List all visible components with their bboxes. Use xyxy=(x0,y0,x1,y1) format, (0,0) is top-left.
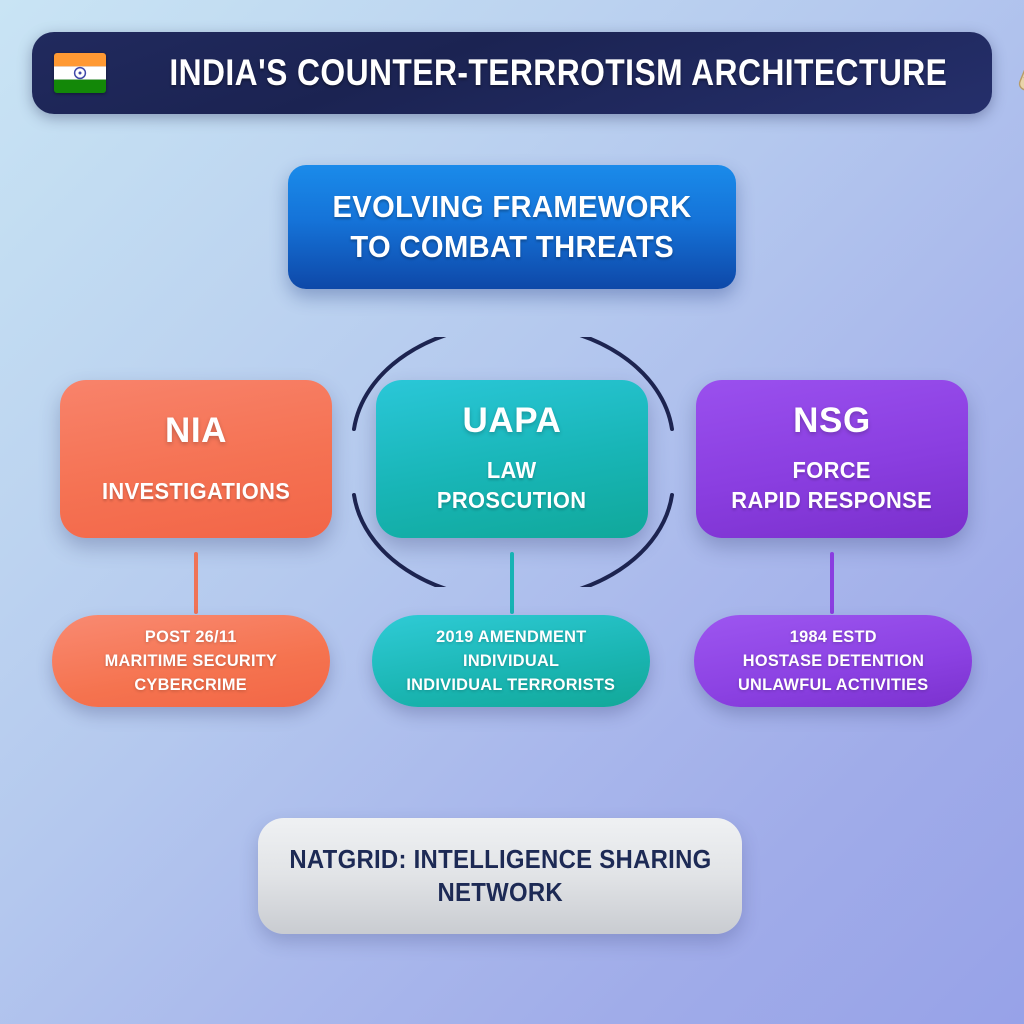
detail-line-nsg-1: HOSTASE DETENTION xyxy=(742,649,923,673)
detail-pill-nia[interactable]: POST 26/11 MARITIME SECURITY CYBERCRIME xyxy=(52,615,330,707)
footer-line-2: NETWORK xyxy=(437,876,563,909)
subtitle-line-1: EVOLVING FRAMEWORK xyxy=(332,187,691,227)
detail-line-uapa-0: 2019 AMENDMENT xyxy=(436,625,586,649)
detail-line-nia-0: POST 26/11 xyxy=(145,625,237,649)
pillar-subs-nia: INVESTIGATIONS xyxy=(97,476,295,506)
pillar-sub-uapa-1: PROSCUTION xyxy=(437,485,586,515)
pillar-sub-nsg-0: FORCE xyxy=(732,455,933,485)
header-bar: INDIA'S COUNTER-TERRROTISM ARCHITECTURE xyxy=(32,32,992,114)
footer-natgrid-box[interactable]: NATGRID: INTELLIGENCE SHARING NETWORK xyxy=(258,818,742,934)
connector-line-nsg xyxy=(830,552,834,614)
page-title: INDIA'S COUNTER-TERRROTISM ARCHITECTURE xyxy=(169,52,947,94)
connector-line-nia xyxy=(194,552,198,614)
subtitle-banner: EVOLVING FRAMEWORK TO COMBAT THREATS xyxy=(288,165,736,289)
detail-pill-nsg[interactable]: 1984 ESTD HOSTASE DETENTION UNLAWFUL ACT… xyxy=(694,615,972,707)
detail-line-nia-2: CYBERCRIME xyxy=(135,673,248,697)
detail-line-nia-1: MARITIME SECURITY xyxy=(105,649,278,673)
pillar-title-nia: NIA xyxy=(165,412,227,451)
detail-line-uapa-1: INDIVIDUAL xyxy=(463,649,559,673)
pillar-card-uapa[interactable]: UAPA LAW PROSCUTION xyxy=(376,380,648,538)
pillar-subs-nsg: FORCE RAPID RESPONSE xyxy=(726,455,937,516)
pillar-sub-uapa-0: LAW xyxy=(437,455,586,485)
detail-line-nsg-2: UNLAWFUL ACTIVITIES xyxy=(738,673,928,697)
pillar-card-nsg[interactable]: NSG FORCE RAPID RESPONSE xyxy=(696,380,968,538)
detail-line-nsg-0: 1984 ESTD xyxy=(790,625,877,649)
pillar-sub-nia-0: INVESTIGATIONS xyxy=(102,476,290,506)
india-flag-icon xyxy=(54,53,106,93)
infographic-canvas: INDIA'S COUNTER-TERRROTISM ARCHITECTURE … xyxy=(0,0,1024,1024)
subtitle-line-2: TO COMBAT THREATS xyxy=(350,227,674,267)
pillar-subs-uapa: LAW PROSCUTION xyxy=(433,455,590,516)
detail-line-uapa-2: INDIVIDUAL TERRORISTS xyxy=(407,673,616,697)
pillar-title-uapa: UAPA xyxy=(463,402,562,441)
pillar-card-nia[interactable]: NIA INVESTIGATIONS xyxy=(60,380,332,538)
pillar-title-nsg: NSG xyxy=(793,402,871,441)
connector-line-uapa xyxy=(510,552,514,614)
pillar-sub-nsg-1: RAPID RESPONSE xyxy=(732,485,933,515)
footer-line-1: NATGRID: INTELLIGENCE SHARING xyxy=(289,843,711,876)
scroll-icon xyxy=(1011,49,1024,97)
detail-pill-uapa[interactable]: 2019 AMENDMENT INDIVIDUAL INDIVIDUAL TER… xyxy=(372,615,650,707)
